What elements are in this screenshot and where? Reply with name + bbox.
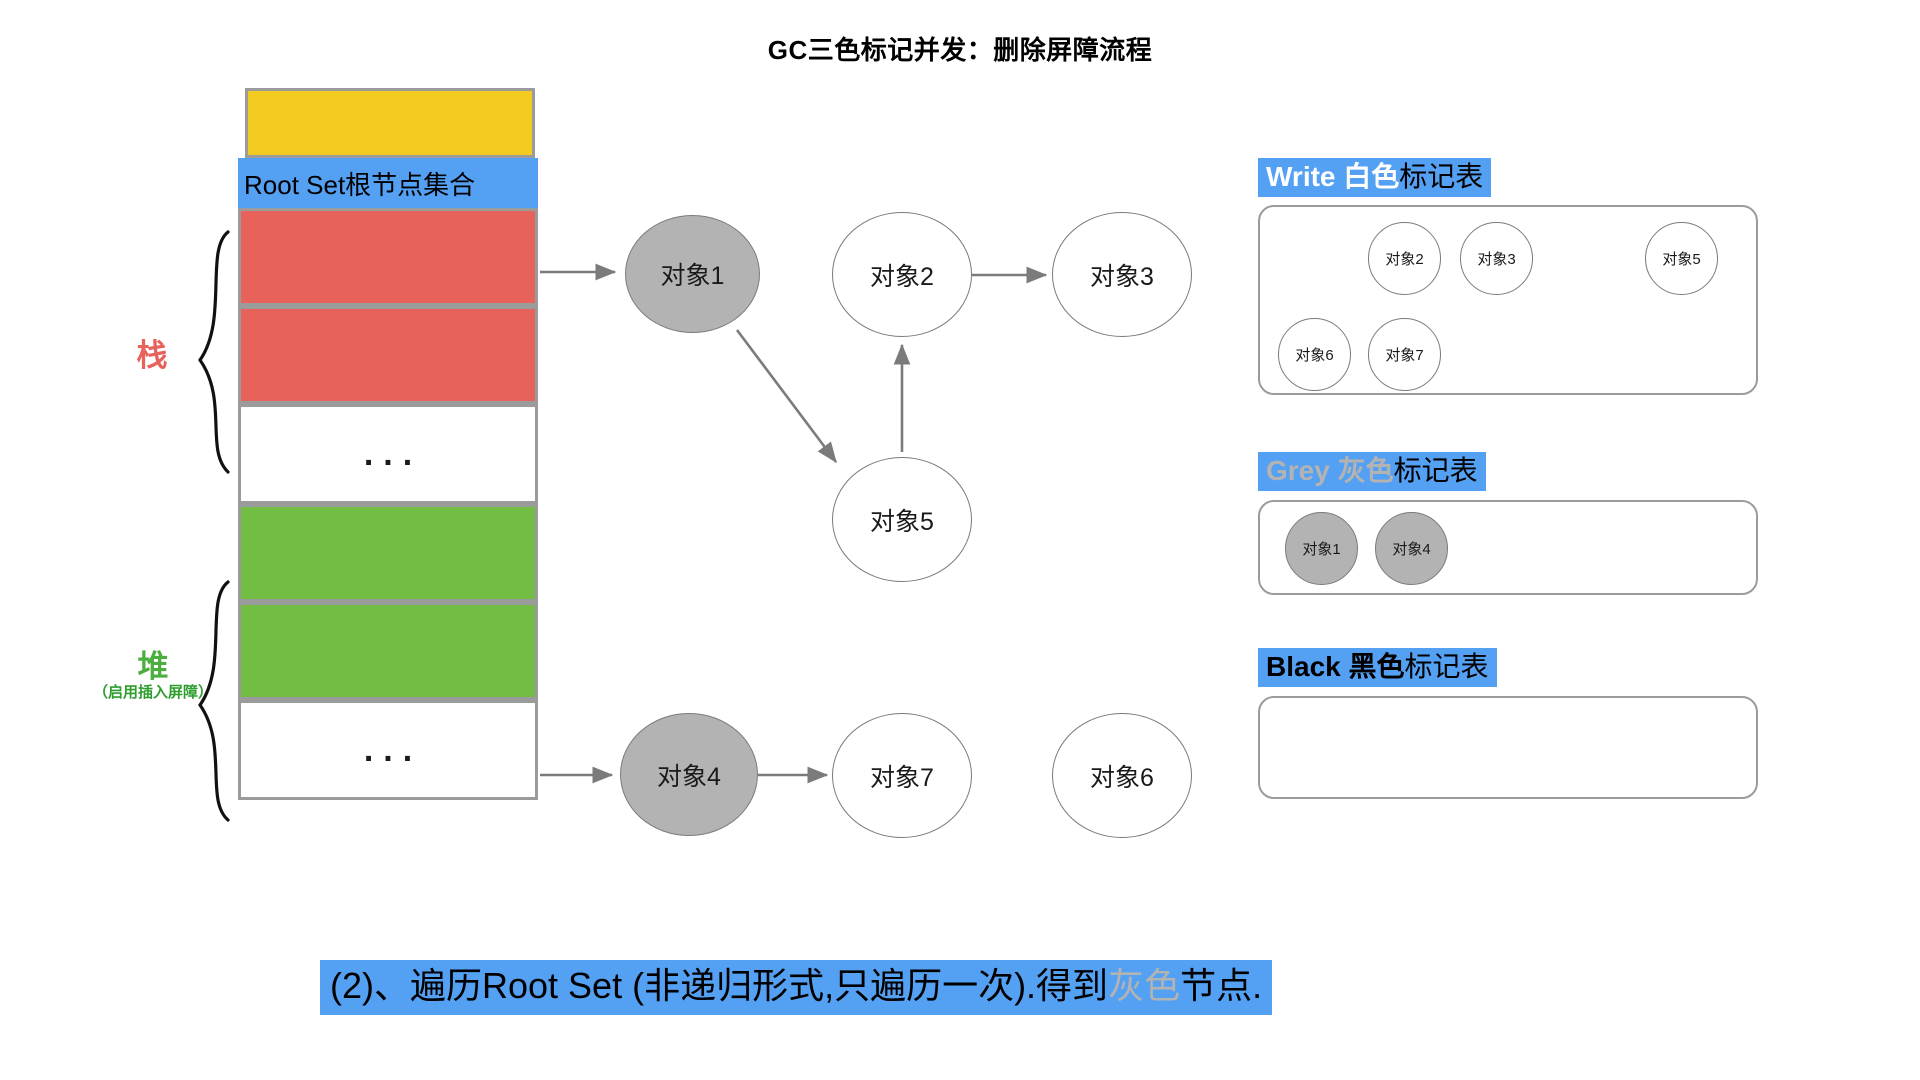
page-title: GC三色标记并发：删除屏障流程	[0, 30, 1920, 67]
node-obj2-label: 对象2	[870, 257, 934, 293]
black-table-title-cn: 黑色	[1349, 651, 1405, 682]
white-chip-obj7[interactable]: 对象7	[1368, 318, 1441, 391]
heap-label: 堆 （启用插入屏障）	[58, 650, 248, 702]
grey-table-title-tail: 标记表	[1394, 455, 1478, 486]
stack-cell-1	[238, 208, 538, 306]
diagram-canvas: GC三色标记并发：删除屏障流程 程序 Root Set根节点集合 ... ...…	[0, 0, 1920, 1080]
node-obj7-label: 对象7	[870, 758, 934, 794]
caption-part2: 节点.	[1180, 965, 1262, 1006]
black-table-title-en: Black	[1266, 651, 1349, 682]
grey-chip-obj1-label: 对象1	[1302, 538, 1340, 559]
step-caption: (2)、遍历Root Set (非递归形式,只遍历一次).得到灰色节点.	[320, 960, 1272, 1015]
node-obj2[interactable]: 对象2	[832, 212, 972, 337]
white-table-title: Write 白色标记表	[1258, 158, 1491, 197]
grey-chip-obj1[interactable]: 对象1	[1285, 512, 1358, 585]
program-cell: 程序	[245, 88, 535, 158]
node-obj1-label: 对象1	[661, 256, 725, 292]
node-obj6-label: 对象6	[1090, 758, 1154, 794]
white-table-title-tail: 标记表	[1399, 161, 1483, 192]
white-chip-obj5-label: 对象5	[1662, 248, 1700, 269]
node-obj6[interactable]: 对象6	[1052, 713, 1192, 838]
heap-label-sub: （启用插入屏障）	[58, 685, 248, 701]
grey-table-title-en: Grey	[1266, 455, 1338, 486]
white-table-title-en: Write	[1266, 161, 1343, 192]
caption-part1: (2)、遍历Root Set (非递归形式,只遍历一次).得到	[330, 965, 1108, 1006]
memory-column: 程序 Root Set根节点集合 ... ...	[238, 88, 538, 800]
white-chip-obj7-label: 对象7	[1385, 344, 1423, 365]
grey-table-title-cn: 灰色	[1338, 455, 1394, 486]
heap-ellipsis-cell: ...	[238, 700, 538, 800]
heap-cell-1	[238, 504, 538, 602]
node-obj5[interactable]: 对象5	[832, 457, 972, 582]
stack-label: 栈	[112, 330, 192, 375]
grey-chip-obj4[interactable]: 对象4	[1375, 512, 1448, 585]
black-table-box	[1258, 696, 1758, 799]
stack-brace	[200, 232, 228, 472]
node-obj1[interactable]: 对象1	[625, 215, 760, 333]
caption-highlight: 灰色	[1108, 965, 1180, 1006]
node-obj4[interactable]: 对象4	[620, 713, 758, 836]
edge-obj1-to-obj5	[737, 330, 836, 462]
white-chip-obj2-label: 对象2	[1385, 248, 1423, 269]
heap-ellipsis: ...	[241, 703, 535, 797]
node-obj5-label: 对象5	[870, 502, 934, 538]
node-obj3-label: 对象3	[1090, 257, 1154, 293]
white-chip-obj6-label: 对象6	[1295, 344, 1333, 365]
white-chip-obj5[interactable]: 对象5	[1645, 222, 1718, 295]
white-table-title-cn: 白色	[1343, 161, 1399, 192]
white-chip-obj3-label: 对象3	[1477, 248, 1515, 269]
white-chip-obj6[interactable]: 对象6	[1278, 318, 1351, 391]
black-table-title: Black 黑色标记表	[1258, 648, 1497, 687]
grey-table-title: Grey 灰色标记表	[1258, 452, 1486, 491]
node-obj4-label: 对象4	[657, 757, 721, 793]
heap-label-main: 堆	[138, 649, 169, 684]
white-chip-obj2[interactable]: 对象2	[1368, 222, 1441, 295]
node-obj7[interactable]: 对象7	[832, 713, 972, 838]
black-table-title-tail: 标记表	[1405, 651, 1489, 682]
white-chip-obj3[interactable]: 对象3	[1460, 222, 1533, 295]
node-obj3[interactable]: 对象3	[1052, 212, 1192, 337]
stack-cell-2	[238, 306, 538, 404]
heap-cell-2	[238, 602, 538, 700]
stack-ellipsis: ...	[241, 407, 535, 501]
stack-ellipsis-cell: ...	[238, 404, 538, 504]
grey-chip-obj4-label: 对象4	[1392, 538, 1430, 559]
